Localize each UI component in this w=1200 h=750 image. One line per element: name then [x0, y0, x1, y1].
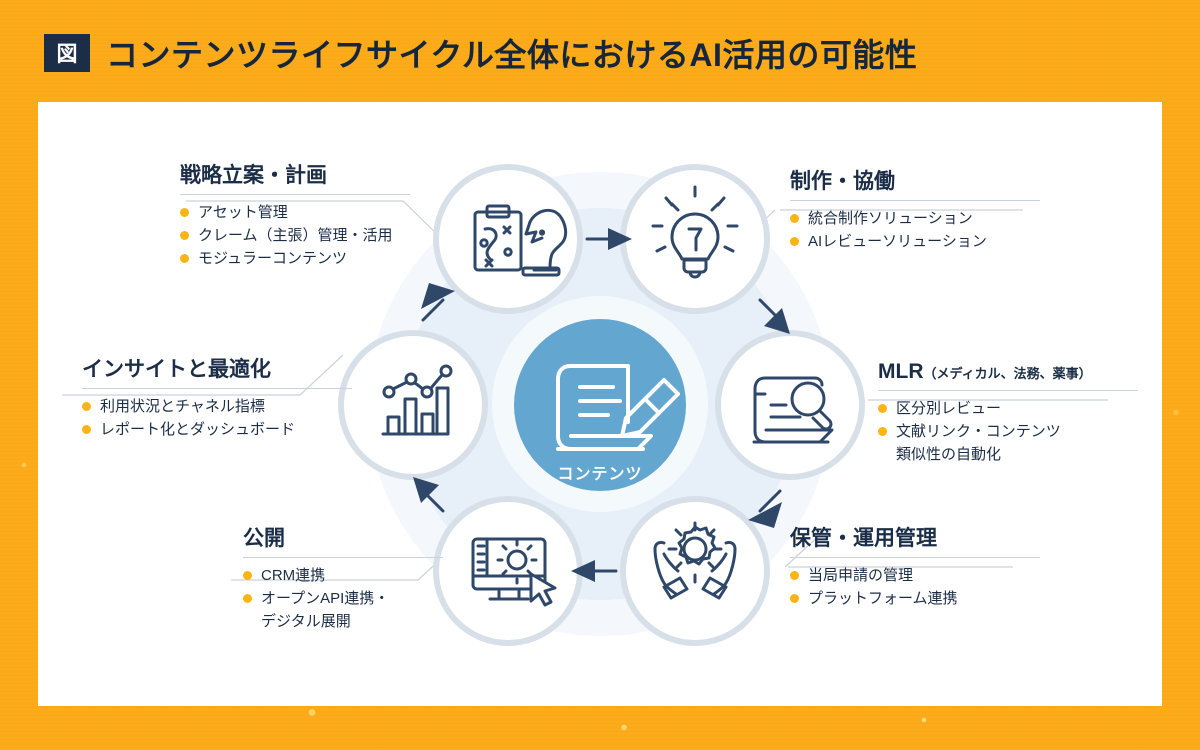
center-label: コンテンツ — [500, 460, 700, 484]
node-circle-publish[interactable] — [436, 499, 580, 643]
bullet-text: 当局申請の管理 — [808, 567, 913, 584]
divider — [878, 390, 1138, 391]
bullet-text: アセット管理 — [198, 204, 288, 221]
bullet-dot-icon — [82, 402, 91, 411]
list-item: オープンAPI連携・ — [243, 588, 443, 611]
bullet-dot-icon — [180, 208, 189, 217]
divider — [180, 194, 410, 195]
list-item: 当局申請の管理 — [790, 565, 1040, 588]
list-item: デジタル展開 — [243, 611, 443, 634]
bullet-text: プラットフォーム連携 — [808, 590, 958, 607]
divider — [82, 388, 352, 389]
node-circle-insight[interactable] — [341, 333, 485, 477]
page-title: コンテンツライフサイクル全体におけるAI活用の可能性 — [106, 30, 917, 76]
divider — [790, 200, 1040, 201]
header: 図 コンテンツライフサイクル全体におけるAI活用の可能性 — [44, 30, 917, 76]
bullet-dot-icon — [243, 571, 252, 580]
bullet-text: レポート化とダッシュボード — [100, 421, 295, 438]
bullet-text: オープンAPI連携・ — [261, 590, 389, 607]
block-strategy: 戦略立案・計画 アセット管理 クレーム（主張）管理・活用 モジュラーコンテンツ — [180, 164, 410, 270]
block-title-insight: インサイトと最適化 — [82, 358, 352, 381]
node-circle-strategy[interactable] — [436, 167, 580, 311]
bullet-dot-icon — [878, 404, 887, 413]
bullet-text: CRM連携 — [261, 567, 325, 584]
list-item: 利用状況とチャネル指標 — [82, 396, 352, 419]
diagram-card: コンテンツ 戦略立案・計画 アセット管理 クレーム（主張）管理・活用 モジュラー… — [38, 102, 1162, 706]
list-item: プラットフォーム連携 — [790, 588, 1040, 611]
block-mlr: MLR（メディカル、法務、薬事） 区分別レビュー 文献リンク・コンテンツ 類似性… — [878, 360, 1138, 466]
bullet-text: 文献リンク・コンテンツ — [896, 423, 1061, 440]
bullet-dot-icon — [790, 594, 799, 603]
divider — [790, 557, 1040, 558]
list-item: CRM連携 — [243, 565, 443, 588]
bullet-dot-icon — [878, 427, 887, 436]
divider — [243, 557, 443, 558]
bullet-list-mlr: 区分別レビュー 文献リンク・コンテンツ 類似性の自動化 — [878, 398, 1138, 466]
block-title-text: MLR — [878, 360, 924, 383]
bullet-list-strategy: アセット管理 クレーム（主張）管理・活用 モジュラーコンテンツ — [180, 202, 410, 270]
block-title-sub: （メディカル、法務、薬事） — [924, 366, 1092, 381]
bullet-text: AIレビューソリューション — [808, 233, 987, 250]
list-item: モジュラーコンテンツ — [180, 248, 410, 271]
bullet-dot-icon — [82, 425, 91, 434]
bullet-dot-icon — [243, 594, 252, 603]
bullet-text: モジュラーコンテンツ — [198, 250, 347, 267]
list-item: 文献リンク・コンテンツ — [878, 421, 1138, 444]
block-insight: インサイトと最適化 利用状況とチャネル指標 レポート化とダッシュボード — [82, 358, 352, 442]
block-title-strategy: 戦略立案・計画 — [180, 164, 410, 187]
list-item: 類似性の自動化 — [878, 444, 1138, 467]
bullet-dot-icon — [180, 231, 189, 240]
list-item: レポート化とダッシュボード — [82, 419, 352, 442]
block-title-storage: 保管・運用管理 — [790, 527, 1040, 550]
bullet-text: 統合制作ソリューション — [808, 210, 973, 227]
bullet-list-creation: 統合制作ソリューション AIレビューソリューション — [790, 208, 1040, 254]
block-creation: 制作・協働 統合制作ソリューション AIレビューソリューション — [790, 170, 1040, 254]
block-title-publish: 公開 — [243, 527, 443, 550]
bullet-list-storage: 当局申請の管理 プラットフォーム連携 — [790, 565, 1040, 611]
bullet-dot-icon — [790, 571, 799, 580]
block-storage: 保管・運用管理 当局申請の管理 プラットフォーム連携 — [790, 527, 1040, 611]
bullet-text: 類似性の自動化 — [896, 446, 1001, 463]
list-item: AIレビューソリューション — [790, 231, 1040, 254]
list-item: クレーム（主張）管理・活用 — [180, 225, 410, 248]
bullet-dot-icon — [790, 214, 799, 223]
list-item: アセット管理 — [180, 202, 410, 225]
figure-badge: 図 — [44, 34, 90, 72]
bullet-list-publish: CRM連携 オープンAPI連携・ デジタル展開 — [243, 565, 443, 633]
bullet-list-insight: 利用状況とチャネル指標 レポート化とダッシュボード — [82, 396, 352, 442]
list-item: 区分別レビュー — [878, 398, 1138, 421]
node-circle-storage[interactable] — [623, 499, 767, 643]
bullet-text: 利用状況とチャネル指標 — [100, 398, 265, 415]
bullet-dot-icon — [790, 237, 799, 246]
bullet-text: 区分別レビュー — [896, 400, 1001, 417]
lifecycle-diagram: コンテンツ 戦略立案・計画 アセット管理 クレーム（主張）管理・活用 モジュラー… — [38, 102, 1162, 706]
node-circle-mlr[interactable] — [718, 333, 862, 477]
block-title-creation: 制作・協働 — [790, 170, 1040, 193]
block-title-mlr: MLR（メディカル、法務、薬事） — [878, 360, 1138, 383]
list-item: 統合制作ソリューション — [790, 208, 1040, 231]
bullet-dot-icon — [180, 254, 189, 263]
block-publish: 公開 CRM連携 オープンAPI連携・ デジタル展開 — [243, 527, 443, 633]
bullet-text: デジタル展開 — [261, 613, 351, 630]
bullet-text: クレーム（主張）管理・活用 — [198, 227, 393, 244]
